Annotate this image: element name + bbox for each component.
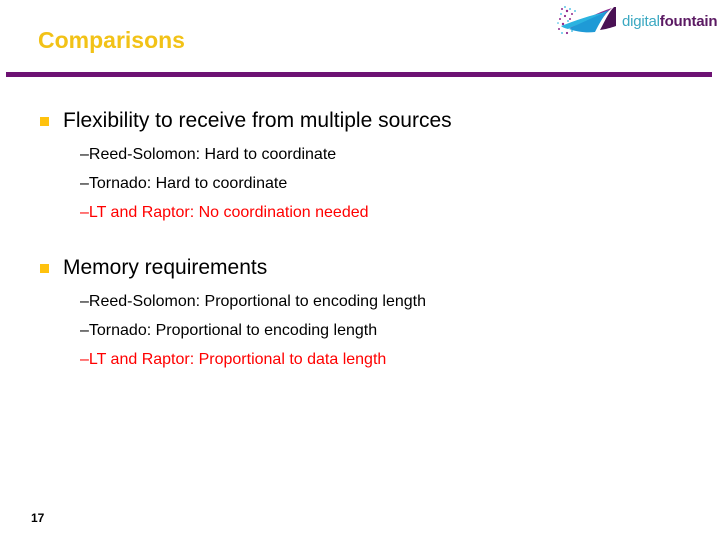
- logo-word-fountain: fountain: [660, 13, 718, 30]
- sub-bullet-item-highlighted: – LT and Raptor: Proportional to data le…: [80, 345, 680, 374]
- logo-wordmark: digitalfountain: [622, 14, 717, 29]
- dash-glyph: –: [80, 345, 89, 374]
- dash-glyph: –: [80, 140, 89, 169]
- sub-bullet-item: – Reed-Solomon: Hard to coordinate: [80, 140, 680, 169]
- page-number: 17: [31, 511, 44, 525]
- bullet-square-icon: [40, 117, 49, 126]
- dash-glyph: –: [80, 287, 89, 316]
- bullet-heading-row: Memory requirements: [40, 255, 680, 281]
- sub-bullet-item-highlighted: – LT and Raptor: No coordination needed: [80, 198, 680, 227]
- bullet-group: Memory requirements – Reed-Solomon: Prop…: [40, 255, 680, 374]
- sub-bullet-item: – Tornado: Proportional to encoding leng…: [80, 316, 680, 345]
- sub-bullet-item: – Tornado: Hard to coordinate: [80, 169, 680, 198]
- bullet-heading-row: Flexibility to receive from multiple sou…: [40, 108, 680, 134]
- logo-word-digital: digital: [622, 13, 660, 30]
- sub-bullet-label: Reed-Solomon: Proportional to encoding l…: [89, 287, 426, 316]
- sub-bullet-label: LT and Raptor: Proportional to data leng…: [89, 345, 386, 374]
- fountain-swoosh-icon: [556, 5, 618, 37]
- sub-bullet-list: – Reed-Solomon: Proportional to encoding…: [80, 287, 680, 374]
- bullet-square-icon: [40, 264, 49, 273]
- brand-logo: digitalfountain: [556, 4, 714, 38]
- sub-bullet-item: – Reed-Solomon: Proportional to encoding…: [80, 287, 680, 316]
- sub-bullet-list: – Reed-Solomon: Hard to coordinate – Tor…: [80, 140, 680, 227]
- dash-glyph: –: [80, 316, 89, 345]
- dash-glyph: –: [80, 169, 89, 198]
- presentation-slide: digitalfountain Comparisons Flexibility …: [0, 0, 719, 539]
- bullet-group: Flexibility to receive from multiple sou…: [40, 108, 680, 227]
- dash-glyph: –: [80, 198, 89, 227]
- sub-bullet-label: Tornado: Proportional to encoding length: [89, 316, 377, 345]
- sub-bullet-label: LT and Raptor: No coordination needed: [89, 198, 369, 227]
- bullet-heading: Memory requirements: [63, 255, 267, 281]
- sub-bullet-label: Reed-Solomon: Hard to coordinate: [89, 140, 336, 169]
- title-divider: [6, 72, 712, 77]
- slide-body: Flexibility to receive from multiple sou…: [40, 108, 680, 374]
- sub-bullet-label: Tornado: Hard to coordinate: [89, 169, 287, 198]
- page-title: Comparisons: [38, 27, 185, 54]
- bullet-heading: Flexibility to receive from multiple sou…: [63, 108, 452, 134]
